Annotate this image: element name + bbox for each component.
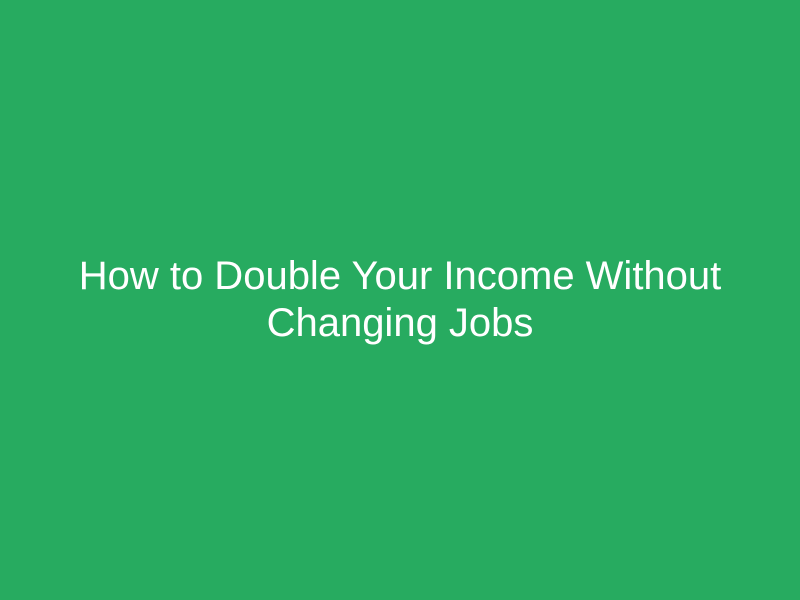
- title-card: How to Double Your Income Without Changi…: [0, 0, 800, 600]
- article-title: How to Double Your Income Without Changi…: [70, 253, 730, 347]
- title-block: How to Double Your Income Without Changi…: [50, 253, 750, 347]
